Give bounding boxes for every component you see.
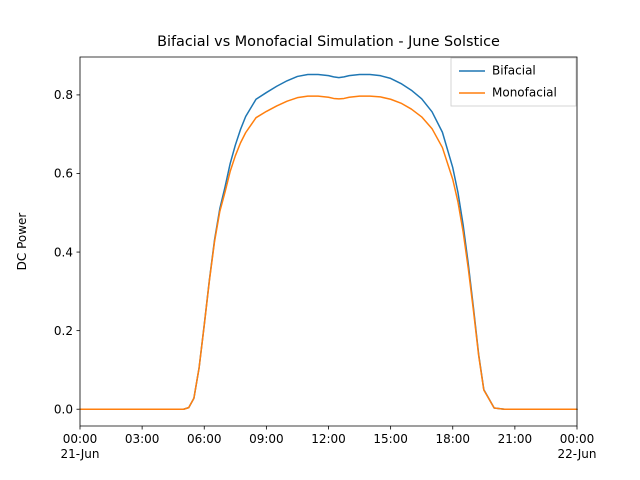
- legend-label-bifacial: Bifacial: [492, 64, 536, 78]
- x-tick-label: 09:00: [249, 432, 284, 446]
- x-tick-label: 00:00: [560, 432, 595, 446]
- y-axis-label: DC Power: [15, 213, 29, 271]
- axes-background: [80, 57, 577, 426]
- x-tick-label: 18:00: [435, 432, 470, 446]
- x-tick-date-label: 22-Jun: [557, 447, 596, 461]
- y-tick-label: 0.0: [54, 402, 73, 416]
- y-tick-label: 0.8: [54, 88, 73, 102]
- y-tick-label: 0.6: [54, 167, 73, 181]
- x-tick-label: 21:00: [498, 432, 533, 446]
- y-tick-label: 0.4: [54, 245, 73, 259]
- x-tick-date-label: 21-Jun: [60, 447, 99, 461]
- chart-canvas: Bifacial vs Monofacial Simulation - June…: [0, 0, 640, 480]
- x-tick-label: 15:00: [373, 432, 408, 446]
- x-tick-label: 03:00: [125, 432, 160, 446]
- x-tick-label: 00:00: [63, 432, 98, 446]
- y-tick-label: 0.2: [54, 324, 73, 338]
- legend-label-monofacial: Monofacial: [492, 86, 557, 100]
- chart-title: Bifacial vs Monofacial Simulation - June…: [157, 34, 500, 50]
- matplotlib-figure: Bifacial vs Monofacial Simulation - June…: [0, 0, 640, 480]
- x-tick-label: 06:00: [187, 432, 222, 446]
- x-tick-label: 12:00: [311, 432, 346, 446]
- chart-legend[interactable]: BifacialMonofacial: [451, 58, 576, 106]
